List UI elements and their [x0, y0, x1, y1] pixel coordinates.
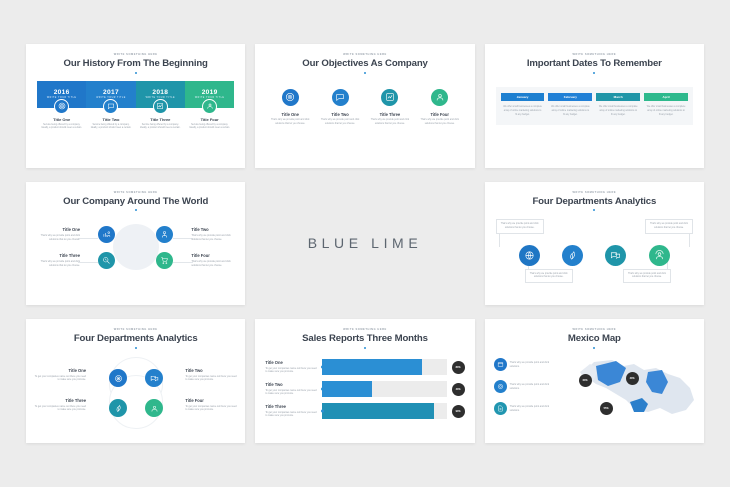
- chart-row[interactable]: Title Two To get your companies name out…: [265, 381, 464, 397]
- chart-row[interactable]: Title One To get your companies name out…: [265, 359, 464, 375]
- value-badge: 80%: [452, 361, 465, 374]
- slide-kicker: WRITE SOMETHING HERE: [26, 328, 245, 331]
- month-text: We offer small businesses a complete arr…: [548, 105, 592, 117]
- item-text: To get your companies name out there you…: [34, 405, 86, 412]
- bar-track: [322, 381, 446, 397]
- item-text: That's why we provide point and click so…: [191, 260, 239, 267]
- month-text: We offer small businesses a complete arr…: [596, 105, 640, 117]
- slide-mexico-map[interactable]: WRITE SOMETHING HERE Mexico Map That's w…: [485, 319, 704, 443]
- slide-kicker: WRITE SOMETHING HERE: [485, 53, 704, 56]
- slide-sales-reports[interactable]: WRITE SOMETHING HERE Sales Reports Three…: [255, 319, 474, 443]
- bar-fill: [322, 359, 421, 375]
- page-title: Mexico Map: [485, 333, 704, 344]
- chat-icon: [331, 88, 350, 107]
- chat-2-icon[interactable]: [605, 245, 626, 266]
- flower-text-block[interactable]: Title One To get your companies name out…: [34, 368, 86, 382]
- item-text: To get your companies name out there you…: [185, 375, 237, 382]
- mexico-diagram: That's why we provide point and click so…: [485, 352, 704, 426]
- map-marker-badge[interactable]: 40%: [626, 372, 639, 385]
- cart-icon: [156, 252, 173, 269]
- world-item-text-block[interactable]: Title Two That's why we provide point an…: [191, 227, 239, 241]
- legend-text: That's why we provide point and click so…: [510, 405, 550, 412]
- item-text: Service being offered by a company. Idea…: [41, 124, 83, 131]
- title-dot: [593, 72, 595, 74]
- year-label: 2016: [54, 89, 70, 96]
- search-time-icon: [98, 252, 115, 269]
- item-title: Title Two: [331, 112, 348, 117]
- slide-important-dates[interactable]: WRITE SOMETHING HERE Important Dates To …: [485, 44, 704, 168]
- document-icon: [494, 402, 507, 415]
- series-desc: To get your companies name out there you…: [265, 367, 317, 374]
- row-label-block: Title Two To get your companies name out…: [265, 382, 317, 396]
- title-dot: [593, 209, 595, 211]
- callout-box[interactable]: That's why we provide point and click so…: [525, 269, 573, 283]
- item-title: Title Three: [32, 253, 80, 258]
- item-text: That's why we provide point and click so…: [420, 119, 460, 127]
- objective-item[interactable]: Title One That's why we provide point an…: [265, 88, 315, 127]
- timeline-item[interactable]: Title Four Service being offered by a co…: [185, 99, 234, 131]
- world-item-icon[interactable]: [98, 252, 115, 269]
- year-label: 2019: [202, 89, 218, 96]
- bar-track: [322, 403, 446, 419]
- item-title: Title One: [53, 117, 70, 122]
- target-icon: [281, 88, 300, 107]
- slide-kicker: WRITE SOMETHING HERE: [26, 191, 245, 194]
- item-title: Title Three: [34, 398, 86, 403]
- support-icon[interactable]: [145, 399, 163, 417]
- item-title: Title Two: [191, 227, 239, 232]
- title-dot: [135, 209, 137, 211]
- year-label: 2018: [152, 89, 168, 96]
- title-dot: [135, 347, 137, 349]
- item-text: That's why we provide point and click so…: [32, 234, 80, 241]
- title-dot: [364, 72, 366, 74]
- brand-wordmark: BLUE LIME: [255, 235, 474, 251]
- leaf-icon[interactable]: [109, 399, 127, 417]
- timeline-icons: Title One Service being offered by a com…: [37, 99, 234, 131]
- item-title: Title Two: [103, 117, 120, 122]
- item-title: Title Three: [150, 117, 170, 122]
- slide-kicker: WRITE SOMETHING HERE: [255, 328, 474, 331]
- year-label: 2017: [103, 89, 119, 96]
- support-icon: [202, 99, 217, 114]
- world-item-icon[interactable]: [156, 252, 173, 269]
- chart-icon: [153, 99, 168, 114]
- item-text: Service being offered by a company. Idea…: [90, 124, 132, 131]
- globe-graphic: [113, 224, 159, 270]
- target-icon: [494, 380, 507, 393]
- item-title: Title Four: [201, 117, 219, 122]
- item-text: To get your companies name out there you…: [185, 405, 237, 412]
- chat-icon: [103, 99, 118, 114]
- month-text: We offer small businesses a complete arr…: [644, 105, 688, 117]
- month-header[interactable]: January: [501, 93, 545, 101]
- globe-icon[interactable]: [519, 245, 540, 266]
- dates-panel: January We offer small businesses a comp…: [496, 87, 693, 125]
- bar-marker: [321, 366, 324, 369]
- timeline-item[interactable]: Title Two Service being offered by a com…: [86, 99, 135, 131]
- legend-text: That's why we provide point and click so…: [510, 383, 550, 390]
- item-text: Service being offered by a company. Idea…: [139, 124, 181, 131]
- slide-our-objectives[interactable]: WRITE SOMETHING HERE Our Objectives As C…: [255, 44, 474, 168]
- slide-kicker: WRITE SOMETHING HERE: [26, 53, 245, 56]
- slide-kicker: WRITE SOMETHING HERE: [485, 328, 704, 331]
- value-badge: 90%: [452, 405, 465, 418]
- map-marker-badge[interactable]: 55%: [600, 402, 613, 415]
- item-text: That's why we provide point and click so…: [32, 260, 80, 267]
- page-title: Our History From The Beginning: [26, 58, 245, 69]
- world-item-text-block[interactable]: Title Three That's why we provide point …: [32, 253, 80, 267]
- objective-item[interactable]: Title Four That's why we provide point a…: [415, 88, 465, 127]
- month-header[interactable]: April: [644, 93, 688, 101]
- mexico-map-graphic[interactable]: [572, 354, 702, 426]
- world-item-text-block[interactable]: Title Four That's why we provide point a…: [191, 253, 239, 267]
- page-title: Important Dates To Remember: [485, 58, 704, 69]
- month-column[interactable]: January We offer small businesses a comp…: [501, 93, 545, 117]
- callout-box[interactable]: That's why we provide point and click so…: [496, 219, 544, 233]
- slide-kicker: WRITE SOMETHING HERE: [255, 53, 474, 56]
- slide-our-history[interactable]: WRITE SOMETHING HERE Our History From Th…: [26, 44, 245, 168]
- title-dot: [135, 72, 137, 74]
- page-title: Sales Reports Three Months: [255, 333, 474, 344]
- item-title: Title One: [32, 227, 80, 232]
- flower-text-block[interactable]: Title Three To get your companies name o…: [34, 398, 86, 412]
- chart-icon: [380, 88, 399, 107]
- month-header[interactable]: March: [596, 93, 640, 101]
- series-name: Title Three: [265, 404, 317, 409]
- timeline-item[interactable]: Title Three Service being offered by a c…: [136, 99, 185, 131]
- legend-text: That's why we provide point and click so…: [510, 361, 550, 368]
- objective-list: Title One That's why we provide point an…: [265, 88, 464, 127]
- support-icon: [430, 88, 449, 107]
- page-title: Four Departments Analytics: [485, 196, 704, 207]
- flower-text-block[interactable]: Title Four To get your companies name ou…: [185, 398, 237, 412]
- objective-item[interactable]: Title Two That's why we provide point an…: [315, 88, 365, 127]
- user-icon: [156, 226, 173, 243]
- target-icon: [54, 99, 69, 114]
- departments-diagram: That's why we provide point and click so…: [485, 215, 704, 287]
- bar-fill: [322, 403, 434, 419]
- slide-deck: WRITE SOMETHING HERE Our History From Th…: [0, 0, 730, 487]
- series-name: Title One: [265, 360, 317, 365]
- title-dot: [364, 347, 366, 349]
- item-title: Title Four: [191, 253, 239, 258]
- item-title: Title Three: [380, 112, 401, 117]
- value-badge: 40%: [452, 383, 465, 396]
- target-icon[interactable]: [109, 369, 127, 387]
- page-title: Our Company Around The World: [26, 196, 245, 207]
- flower-diagram: Title One To get your companies name out…: [26, 351, 245, 427]
- bar-marker: [321, 410, 324, 413]
- slide-kicker: WRITE SOMETHING HERE: [485, 191, 704, 194]
- month-text: We offer small businesses a complete arr…: [501, 105, 545, 117]
- item-text: That's why we provide point and click so…: [370, 119, 410, 127]
- item-text: That's why we provide point and click so…: [191, 234, 239, 241]
- slide-departments-callouts[interactable]: WRITE SOMETHING HERE Four Departments An…: [485, 182, 704, 306]
- map-legend-item[interactable]: That's why we provide point and click so…: [494, 402, 550, 415]
- world-item-icon[interactable]: [98, 226, 115, 243]
- month-header[interactable]: February: [548, 93, 592, 101]
- slide-around-the-world[interactable]: WRITE SOMETHING HERE Our Company Around …: [26, 182, 245, 306]
- page-title: Four Departments Analytics: [26, 333, 245, 344]
- sales-bar-chart: Title One To get your companies name out…: [265, 359, 464, 419]
- series-desc: To get your companies name out there you…: [265, 411, 317, 418]
- item-title: Title Two: [185, 368, 237, 373]
- bar-track: [322, 359, 446, 375]
- world-item-icon[interactable]: [156, 226, 173, 243]
- timeline-item[interactable]: Title One Service being offered by a com…: [37, 99, 86, 131]
- map-legend-item[interactable]: That's why we provide point and click so…: [494, 380, 550, 393]
- flower-text-block[interactable]: Title Two To get your companies name out…: [185, 368, 237, 382]
- row-label-block: Title One To get your companies name out…: [265, 360, 317, 374]
- support-icon[interactable]: [649, 245, 670, 266]
- item-text: Service being offered by a company. Idea…: [189, 124, 231, 131]
- series-desc: To get your companies name out there you…: [265, 389, 317, 396]
- month-column[interactable]: April We offer small businesses a comple…: [644, 93, 688, 117]
- item-title: Title One: [282, 112, 299, 117]
- slide-departments-flower[interactable]: WRITE SOMETHING HERE Four Departments An…: [26, 319, 245, 443]
- world-diagram: Title One That's why we provide point an…: [26, 216, 245, 282]
- item-title: Title Four: [185, 398, 237, 403]
- month-column[interactable]: February We offer small businesses a com…: [548, 93, 592, 117]
- chat-2-icon[interactable]: [145, 369, 163, 387]
- callout-box[interactable]: That's why we provide point and click so…: [645, 219, 693, 233]
- page-title: Our Objectives As Company: [255, 58, 474, 69]
- month-column[interactable]: March We offer small businesses a comple…: [596, 93, 640, 117]
- bar-marker: [321, 388, 324, 391]
- leaf-icon[interactable]: [562, 245, 583, 266]
- objective-item[interactable]: Title Three That's why we provide point …: [365, 88, 415, 127]
- item-title: Title One: [34, 368, 86, 373]
- callout-box[interactable]: That's why we provide point and click so…: [623, 269, 671, 283]
- slide-brand-logo[interactable]: BLUE LIME: [255, 182, 474, 306]
- item-title: Title Four: [430, 112, 449, 117]
- chart-row[interactable]: Title Three To get your companies name o…: [265, 403, 464, 419]
- title-dot: [593, 347, 595, 349]
- map-legend-item[interactable]: That's why we provide point and click so…: [494, 358, 550, 371]
- bar-fill: [322, 381, 372, 397]
- item-text: That's why we provide point and click so…: [270, 119, 310, 127]
- browser-icon: [494, 358, 507, 371]
- item-text: That's why we provide point and click so…: [320, 119, 360, 127]
- map-marker-badge[interactable]: 60%: [579, 374, 592, 387]
- row-label-block: Title Three To get your companies name o…: [265, 404, 317, 418]
- people-chart-icon: [98, 226, 115, 243]
- world-item-text-block[interactable]: Title One That's why we provide point an…: [32, 227, 80, 241]
- series-name: Title Two: [265, 382, 317, 387]
- item-text: To get your companies name out there you…: [34, 375, 86, 382]
